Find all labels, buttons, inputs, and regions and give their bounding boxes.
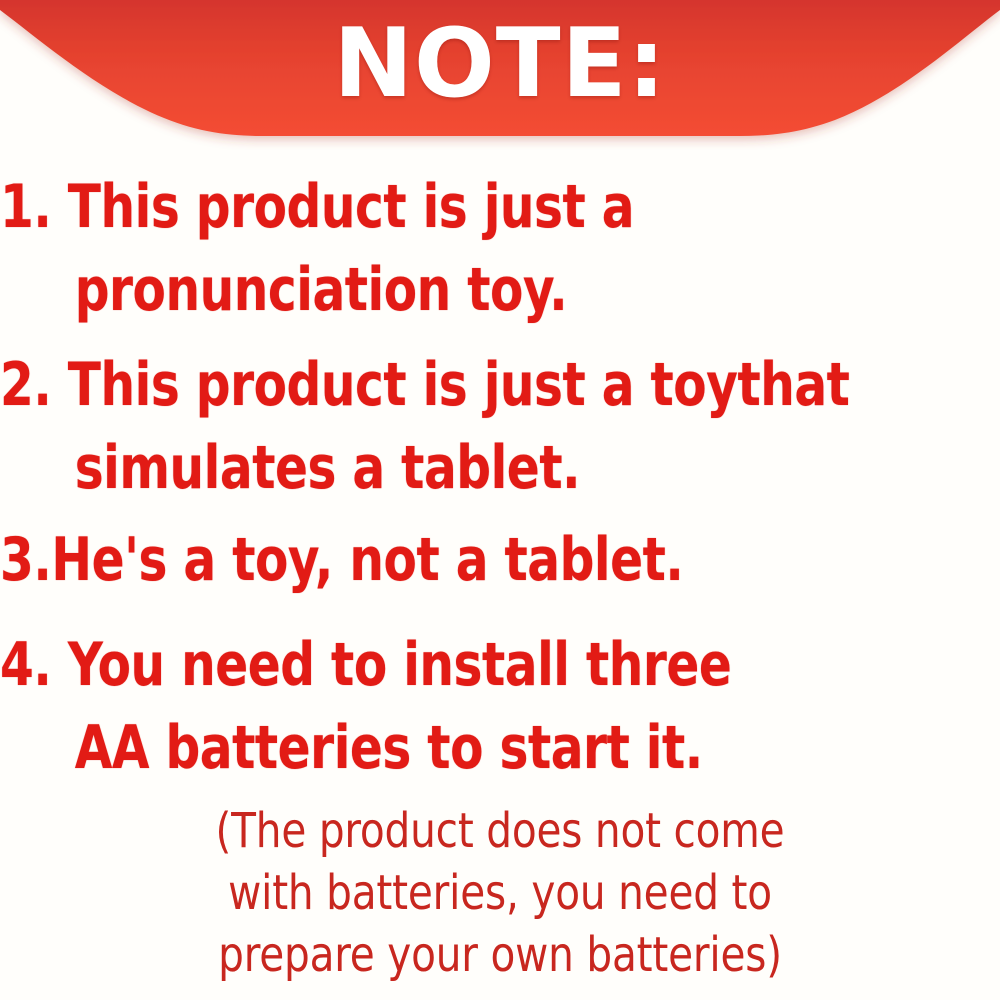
note-item-2-line-1: 2. This product is just a toythat — [0, 350, 849, 420]
page-title: NOTE: — [0, 8, 1000, 120]
footnote-line-1: (The product does not come — [143, 800, 857, 862]
note-item-3: 3.He's a toy, not a tablet. — [0, 519, 900, 602]
note-item-2-line-2: simulates a tablet. — [75, 433, 580, 503]
footnote-disclaimer: (The product does not come with batterie… — [143, 800, 857, 986]
note-banner: NOTE: — [0, 0, 1000, 150]
footnote-line-2: with batteries, you need to — [143, 862, 857, 924]
note-item-2: 2. This product is just a toythat simula… — [0, 344, 900, 510]
note-item-4: 4. You need to install three AA batterie… — [0, 624, 900, 790]
note-list: 1. This product is just a pronunciation … — [0, 166, 1000, 790]
note-graphic: NOTE: 1. This product is just a pronunci… — [0, 0, 1000, 1000]
note-item-3-line-1: 3.He's a toy, not a tablet. — [0, 525, 683, 595]
note-item-4-line-2: AA batteries to start it. — [75, 713, 703, 783]
note-item-4-line-1: 4. You need to install three — [0, 630, 731, 700]
note-item-1-line-1: 1. This product is just a — [0, 172, 634, 242]
note-item-1: 1. This product is just a pronunciation … — [0, 166, 900, 332]
note-item-1-line-2: pronunciation toy. — [75, 255, 568, 325]
footnote-line-3: prepare your own batteries) — [143, 924, 857, 986]
